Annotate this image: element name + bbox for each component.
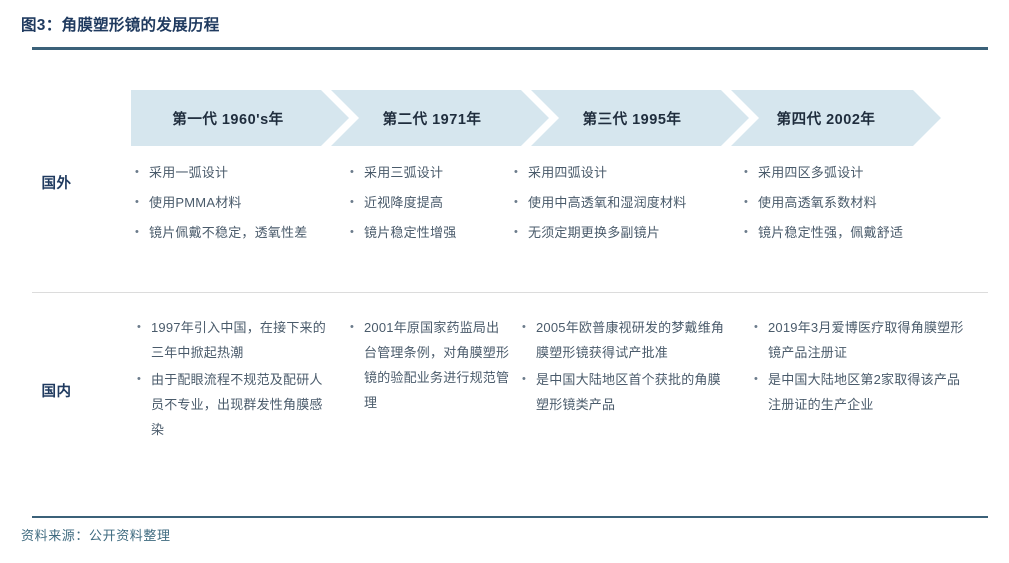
cell-foreign-gen4: 采用四区多弧设计 使用高透氧系数材料 镜片稳定性强，佩戴舒适 (726, 160, 956, 270)
timeline-chevron-1-label: 第一代 1960's年 (172, 108, 283, 129)
title-divider (32, 47, 988, 50)
list-item: 采用一弧设计 (135, 160, 332, 185)
timeline-chevron-4[interactable]: 第四代 2002年 (731, 90, 941, 146)
page-title: 图3：角膜塑形镜的发展历程 (21, 13, 220, 35)
timeline-header: 第一代 1960's年 第二代 1971年 第三代 1995年 第四代 2002… (131, 90, 941, 146)
list-item: 是中国大陆地区首个获批的角膜塑形镜类产品 (522, 367, 732, 417)
list-item: 1997年引入中国，在接下来的三年中掀起热潮 (137, 315, 332, 365)
row-foreign-cells: 采用一弧设计 使用PMMA材料 镜片佩戴不稳定，透氧性差 采用三弧设计 近视降度… (131, 160, 1009, 270)
source-note: 资料来源：公开资料整理 (21, 525, 171, 544)
list-item: 镜片稳定性增强 (350, 220, 502, 245)
list-item: 使用高透氧系数材料 (744, 190, 952, 215)
timeline-chevron-3[interactable]: 第三代 1995年 (531, 90, 749, 146)
list-item: 无须定期更换多副镜片 (514, 220, 722, 245)
row-label-domestic: 国内 (0, 315, 131, 465)
timeline-chevron-3-label: 第三代 1995年 (583, 108, 682, 129)
list-item: 近视降度提高 (350, 190, 502, 215)
timeline-chevron-1[interactable]: 第一代 1960's年 (131, 90, 349, 146)
list-item: 镜片佩戴不稳定，透氧性差 (135, 220, 332, 245)
list-item: 使用中高透氧和湿润度材料 (514, 190, 722, 215)
list-item: 是中国大陆地区第2家取得该产品注册证的生产企业 (754, 367, 964, 417)
list-item: 采用四弧设计 (514, 160, 722, 185)
cell-domestic-gen4: 2019年3月爱博医疗取得角膜塑形镜产品注册证 是中国大陆地区第2家取得该产品注… (736, 315, 968, 465)
list-item: 采用四区多弧设计 (744, 160, 952, 185)
row-divider (32, 292, 988, 293)
row-domestic-cells: 1997年引入中国，在接下来的三年中掀起热潮 由于配眼流程不规范及配研人员不专业… (131, 315, 1009, 465)
list-item: 采用三弧设计 (350, 160, 502, 185)
list-item: 使用PMMA材料 (135, 190, 332, 215)
timeline-chevron-2-label: 第二代 1971年 (383, 108, 482, 129)
bullet-list: 采用三弧设计 近视降度提高 镜片稳定性增强 (350, 160, 502, 245)
footer-divider (32, 516, 988, 518)
table-row-domestic: 国内 1997年引入中国，在接下来的三年中掀起热潮 由于配眼流程不规范及配研人员… (0, 315, 1009, 465)
bullet-list: 采用四区多弧设计 使用高透氧系数材料 镜片稳定性强，佩戴舒适 (744, 160, 952, 245)
bullet-list: 2019年3月爱博医疗取得角膜塑形镜产品注册证 是中国大陆地区第2家取得该产品注… (754, 315, 964, 417)
row-label-foreign: 国外 (0, 160, 131, 270)
figure-page: { "figure": { "title": "图3：角膜塑形镜的发展历程", … (0, 0, 1009, 563)
table-row-foreign: 国外 采用一弧设计 使用PMMA材料 镜片佩戴不稳定，透氧性差 采用三弧设计 近… (0, 160, 1009, 270)
cell-domestic-gen3: 2005年欧普康视研发的梦戴维角膜塑形镜获得试产批准 是中国大陆地区首个获批的角… (514, 315, 736, 465)
timeline-chevron-4-label: 第四代 2002年 (777, 108, 876, 129)
list-item: 2005年欧普康视研发的梦戴维角膜塑形镜获得试产批准 (522, 315, 732, 365)
list-item: 2019年3月爱博医疗取得角膜塑形镜产品注册证 (754, 315, 964, 365)
cell-domestic-gen1: 1997年引入中国，在接下来的三年中掀起热潮 由于配眼流程不规范及配研人员不专业… (131, 315, 336, 465)
cell-foreign-gen1: 采用一弧设计 使用PMMA材料 镜片佩戴不稳定，透氧性差 (131, 160, 336, 270)
bullet-list: 2001年原国家药监局出台管理条例，对角膜塑形镜的验配业务进行规范管理 (350, 315, 510, 415)
list-item: 由于配眼流程不规范及配研人员不专业，出现群发性角膜感染 (137, 367, 332, 442)
bullet-list: 采用四弧设计 使用中高透氧和湿润度材料 无须定期更换多副镜片 (514, 160, 722, 245)
cell-domestic-gen2: 2001年原国家药监局出台管理条例，对角膜塑形镜的验配业务进行规范管理 (336, 315, 514, 465)
bullet-list: 采用一弧设计 使用PMMA材料 镜片佩戴不稳定，透氧性差 (135, 160, 332, 245)
bullet-list: 1997年引入中国，在接下来的三年中掀起热潮 由于配眼流程不规范及配研人员不专业… (137, 315, 332, 442)
timeline-chevron-2[interactable]: 第二代 1971年 (331, 90, 549, 146)
bullet-list: 2005年欧普康视研发的梦戴维角膜塑形镜获得试产批准 是中国大陆地区首个获批的角… (522, 315, 732, 417)
cell-foreign-gen2: 采用三弧设计 近视降度提高 镜片稳定性增强 (336, 160, 506, 270)
list-item: 镜片稳定性强，佩戴舒适 (744, 220, 952, 245)
list-item: 2001年原国家药监局出台管理条例，对角膜塑形镜的验配业务进行规范管理 (350, 315, 510, 415)
cell-foreign-gen3: 采用四弧设计 使用中高透氧和湿润度材料 无须定期更换多副镜片 (506, 160, 726, 270)
